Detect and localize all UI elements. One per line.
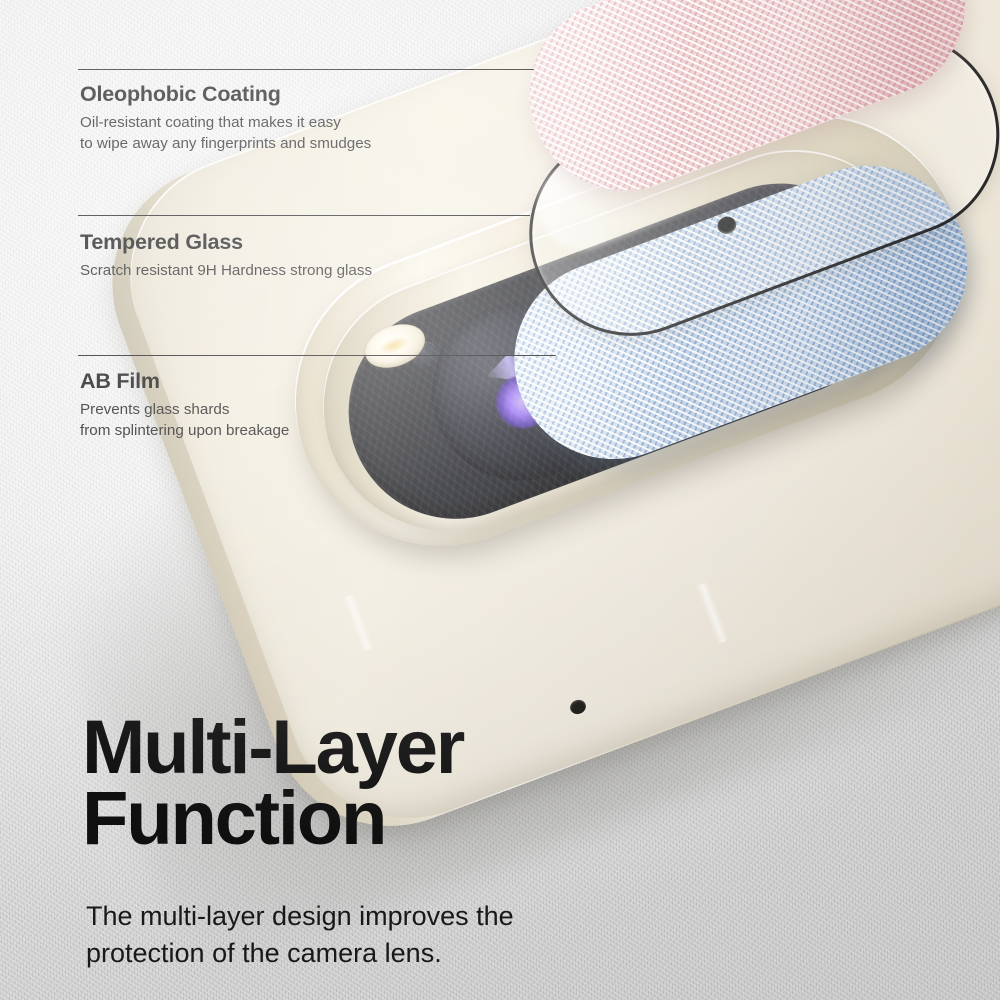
product-infographic: Oleophobic Coating Oil-resistant coating… xyxy=(0,0,1000,1000)
callout-desc-tempered-glass-line1: Scratch resistant 9H Hardness strong gla… xyxy=(80,262,372,279)
callout-desc-oleophobic-line1: Oil-resistant coating that makes it easy xyxy=(80,114,341,131)
callout-title-ab-film: AB Film xyxy=(80,369,289,394)
headline: Multi-Layer Function xyxy=(82,712,463,855)
leader-line-oleophobic xyxy=(78,69,534,70)
subcopy: The multi-layer design improves the prot… xyxy=(86,898,514,973)
callout-desc-ab-film: Prevents glass shards from splintering u… xyxy=(80,400,289,441)
callout-oleophobic-coating: Oleophobic Coating Oil-resistant coating… xyxy=(80,82,371,154)
callout-title-tempered-glass: Tempered Glass xyxy=(80,230,372,255)
subcopy-line1: The multi-layer design improves the xyxy=(86,898,514,935)
tempered-glass-flash-cutout xyxy=(715,214,739,237)
callout-desc-oleophobic-line2: to wipe away any fingerprints and smudge… xyxy=(80,135,371,152)
callout-title-oleophobic: Oleophobic Coating xyxy=(80,82,371,107)
leader-line-ab-film xyxy=(78,355,556,356)
callout-desc-ab-film-line2: from splintering upon breakage xyxy=(80,422,289,439)
subcopy-line2: protection of the camera lens. xyxy=(86,935,514,972)
headline-line1: Multi-Layer xyxy=(82,712,463,783)
callout-desc-tempered-glass: Scratch resistant 9H Hardness strong gla… xyxy=(80,261,372,282)
callout-desc-oleophobic: Oil-resistant coating that makes it easy… xyxy=(80,113,371,154)
callout-tempered-glass: Tempered Glass Scratch resistant 9H Hard… xyxy=(80,230,372,282)
headline-line2: Function xyxy=(82,783,463,854)
callout-ab-film: AB Film Prevents glass shards from splin… xyxy=(80,369,289,441)
callout-desc-ab-film-line1: Prevents glass shards xyxy=(80,401,229,418)
leader-line-tempered-glass xyxy=(78,215,530,216)
